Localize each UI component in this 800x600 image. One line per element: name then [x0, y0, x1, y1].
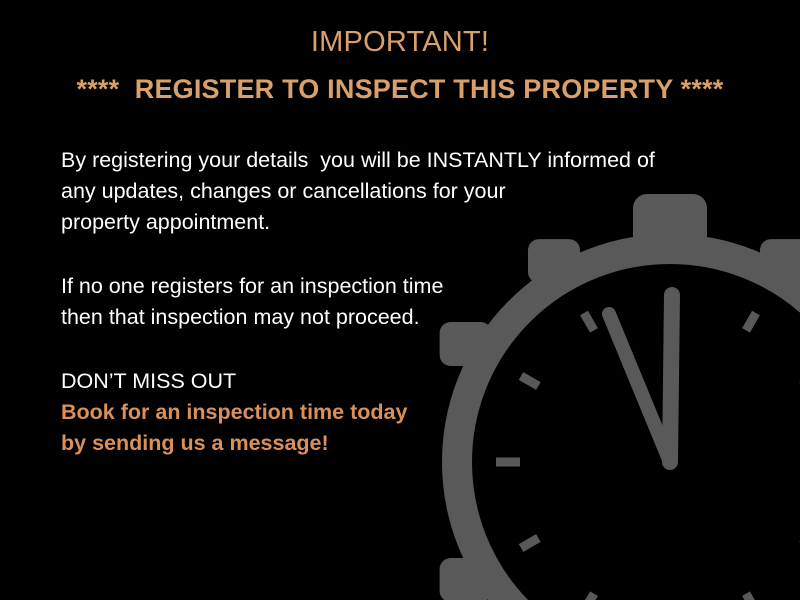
body-line: property appointment.	[61, 207, 721, 238]
heading-block: IMPORTANT! **** REGISTER TO INSPECT THIS…	[0, 22, 800, 109]
cta-dont-miss-out: DON’T MISS OUT	[61, 366, 721, 397]
slide-canvas: IMPORTANT! **** REGISTER TO INSPECT THIS…	[0, 0, 800, 600]
body-line: If no one registers for an inspection ti…	[61, 271, 721, 302]
heading-register-to-inspect: **** REGISTER TO INSPECT THIS PROPERTY *…	[0, 69, 800, 109]
body-copy: By registering your details you will be …	[61, 145, 721, 459]
cta-book-inspection: Book for an inspection time today	[61, 397, 721, 428]
body-line: then that inspection may not proceed.	[61, 302, 721, 333]
body-line: By registering your details you will be …	[61, 145, 721, 176]
body-line: any updates, changes or cancellations fo…	[61, 176, 721, 207]
cta-send-message: by sending us a message!	[61, 428, 721, 459]
registration-benefit-paragraph: By registering your details you will be …	[61, 145, 721, 238]
heading-important: IMPORTANT!	[0, 22, 800, 62]
call-to-action-paragraph: DON’T MISS OUT Book for an inspection ti…	[61, 366, 721, 459]
no-registration-warning-paragraph: If no one registers for an inspection ti…	[61, 271, 721, 333]
